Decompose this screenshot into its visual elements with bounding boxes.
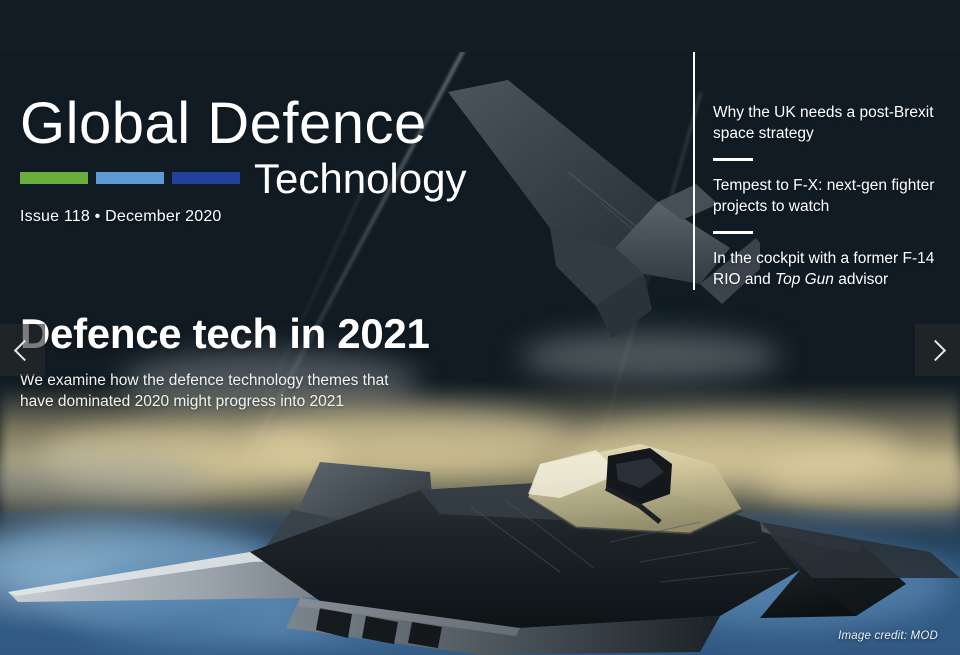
brand-bar-green (20, 172, 88, 184)
top-bar (0, 0, 960, 52)
headline-rail: Why the UK needs a post-Brexit space str… (693, 52, 960, 290)
masthead-title-line1: Global Defence (20, 95, 466, 153)
carousel-next-button[interactable] (915, 324, 960, 376)
chevron-left-icon (14, 339, 35, 360)
headline-text-italic: Top Gun (775, 271, 834, 288)
masthead: Global Defence Technology Issue 118 • De… (20, 95, 466, 226)
feature-title[interactable]: Defence tech in 2021 (20, 312, 620, 356)
headline-link-next-gen-fighters[interactable]: Tempest to F-X: next-gen fighter project… (713, 175, 953, 217)
headline-separator (713, 231, 753, 234)
aircraft-main (0, 402, 960, 655)
headline-list: Why the UK needs a post-Brexit space str… (713, 102, 953, 290)
headline-link-space-strategy[interactable]: Why the UK needs a post-Brexit space str… (713, 102, 953, 144)
headline-link-top-gun-advisor[interactable]: In the cockpit with a former F-14 RIO an… (713, 248, 953, 290)
headline-separator (713, 158, 753, 161)
masthead-title-line2: Technology (254, 158, 466, 200)
issue-line: Issue 118 • December 2020 (20, 208, 466, 226)
brand-bar-navy (172, 172, 240, 184)
headline-text-after: advisor (834, 271, 888, 288)
feature-description: We examine how the defence technology th… (20, 370, 420, 412)
chevron-right-icon (925, 339, 946, 360)
magazine-cover: Global Defence Technology Issue 118 • De… (0, 0, 960, 655)
feature-block: Defence tech in 2021 We examine how the … (20, 312, 620, 412)
brand-bars (20, 172, 240, 200)
carousel-prev-button[interactable] (0, 324, 45, 376)
brand-bar-blue (96, 172, 164, 184)
rail-divider (693, 52, 695, 290)
image-credit: Image credit: MOD (838, 630, 938, 642)
